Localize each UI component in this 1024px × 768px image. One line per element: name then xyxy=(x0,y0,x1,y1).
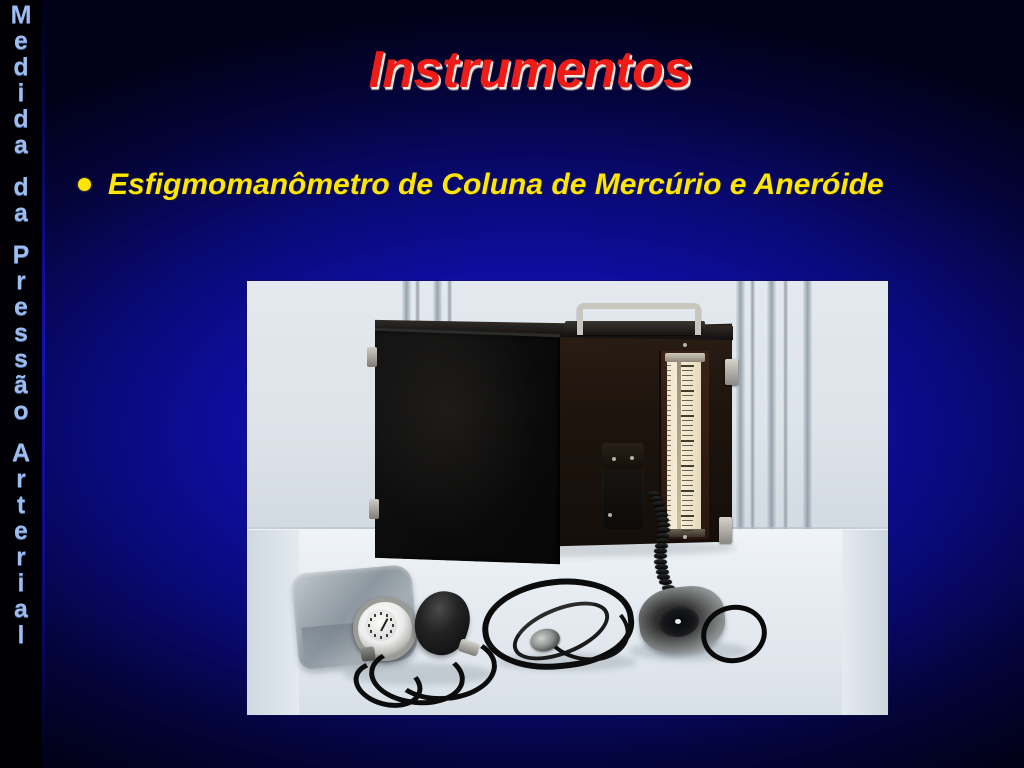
scale-tick xyxy=(663,425,671,426)
gauge-needle xyxy=(380,618,388,631)
scale-tick xyxy=(663,460,671,461)
scale-tick xyxy=(682,445,693,446)
scale-tick xyxy=(663,390,671,391)
sidebar-letter: ã xyxy=(0,372,42,398)
scale-tick xyxy=(663,375,671,376)
scale-tick xyxy=(663,470,671,471)
scale-tick xyxy=(682,435,693,436)
scale-tick xyxy=(663,440,671,441)
scale-tick xyxy=(663,395,671,396)
scale-tick xyxy=(682,430,693,431)
page-title: Instrumentos xyxy=(180,40,880,104)
sidebar-letter: d xyxy=(0,174,42,200)
sidebar-letter: i xyxy=(0,570,42,596)
gauge-tick xyxy=(370,618,372,621)
sidebar-letter: o xyxy=(0,398,42,424)
scale-tick xyxy=(682,480,693,481)
pouch-stud xyxy=(608,513,612,517)
scale-tick xyxy=(663,410,671,411)
scale-tick xyxy=(663,385,671,386)
list-item: Esfigmomanômetro de Coluna de Mercúrio e… xyxy=(78,165,968,205)
scale-tick xyxy=(682,450,693,451)
sidebar-letter: l xyxy=(0,622,42,648)
case-hinge xyxy=(367,347,377,367)
scale-tick xyxy=(682,375,693,376)
scale-tick xyxy=(681,365,694,367)
scale-tick xyxy=(663,400,671,401)
case-hinge xyxy=(369,499,379,519)
gauge-tick xyxy=(392,624,394,627)
gauge-tick xyxy=(374,614,376,617)
sidebar-letter: d xyxy=(0,106,42,132)
scale-tick xyxy=(682,405,693,406)
scale-tick xyxy=(682,395,693,396)
case-latch xyxy=(725,359,738,385)
rolled-cuff xyxy=(639,581,749,659)
aneroid-sphygmomanometer xyxy=(295,569,515,709)
scale-tick xyxy=(663,480,671,481)
sidebar-letter: P xyxy=(0,242,42,268)
sidebar-letter: s xyxy=(0,346,42,372)
curtain-pleat xyxy=(767,281,776,533)
sidebar-letter: i xyxy=(0,80,42,106)
case-lid-sheen xyxy=(375,331,560,564)
gauge-tick xyxy=(380,612,382,615)
curtain-pleat xyxy=(803,281,812,533)
sidebar-letter: a xyxy=(0,132,42,158)
sidebar-letter: a xyxy=(0,200,42,226)
bullet-text: Esfigmomanômetro de Coluna de Mercúrio e… xyxy=(108,165,884,205)
gauge-tick xyxy=(390,618,392,621)
scale-tick xyxy=(682,475,693,476)
carry-handle-icon xyxy=(577,303,701,335)
gauge-tick xyxy=(370,630,372,633)
sidebar-letter: r xyxy=(0,268,42,294)
scale-tick xyxy=(682,470,693,471)
table-right-fall xyxy=(842,530,888,715)
panel-screw xyxy=(683,343,687,347)
accessory-pouch xyxy=(602,443,644,529)
vertical-title-sidebar: MedidadaPressãoArterial xyxy=(0,0,42,768)
pouch-stud xyxy=(612,457,616,461)
pouch-stud xyxy=(630,456,634,460)
sidebar-letter: A xyxy=(0,440,42,466)
curtain-pleat xyxy=(736,281,745,533)
sidebar-letter: e xyxy=(0,28,42,54)
sidebar-letter: d xyxy=(0,54,42,80)
scale-tick xyxy=(681,465,694,467)
scale-tick xyxy=(663,485,671,486)
gauge-tick xyxy=(380,636,382,639)
sidebar-letter: M xyxy=(0,2,42,28)
scale-tick xyxy=(682,380,693,381)
cuff-highlight xyxy=(675,619,681,624)
scale-tick xyxy=(663,475,671,476)
gauge-tick xyxy=(368,624,370,627)
pouch-flap xyxy=(602,443,644,469)
instrument-photo xyxy=(247,281,888,715)
sidebar-letter: a xyxy=(0,596,42,622)
sidebar-letter: t xyxy=(0,492,42,518)
scale-tick xyxy=(663,465,671,466)
scale-tick xyxy=(682,425,693,426)
sidebar-letter: e xyxy=(0,518,42,544)
sidebar-letter: r xyxy=(0,544,42,570)
scale-tick xyxy=(681,415,694,417)
scale-tick xyxy=(682,400,693,401)
scale-tick xyxy=(682,485,693,486)
scale-tick xyxy=(663,415,671,416)
case-lid xyxy=(375,328,560,564)
sidebar-glow-edge xyxy=(42,0,45,768)
scale-tick xyxy=(663,365,671,366)
scale-tick xyxy=(682,370,693,371)
content-body: Esfigmomanômetro de Coluna de Mercúrio e… xyxy=(78,165,968,205)
scale-tick xyxy=(682,420,693,421)
gauge-dial-face xyxy=(365,609,397,641)
scale-tick xyxy=(663,455,671,456)
scale-tick xyxy=(663,370,671,371)
sidebar-letter: e xyxy=(0,294,42,320)
scale-tick xyxy=(663,430,671,431)
scale-top-cap xyxy=(665,353,705,362)
scale-tick xyxy=(682,460,693,461)
curtain-pleat xyxy=(750,281,755,533)
table-left-fall xyxy=(247,530,299,715)
scale-tick xyxy=(681,440,694,442)
slide-canvas: MedidadaPressãoArterial Instrumentos Esf… xyxy=(0,0,1024,768)
scale-tick xyxy=(663,435,671,436)
scale-tick xyxy=(682,385,693,386)
curtain-pleat xyxy=(783,281,788,533)
scale-tick xyxy=(682,455,693,456)
sidebar-letter: s xyxy=(0,320,42,346)
bullet-dot-icon xyxy=(78,178,91,191)
gauge-tick xyxy=(390,630,392,633)
scale-tick xyxy=(682,410,693,411)
case-latch xyxy=(719,517,732,543)
scale-tick xyxy=(663,420,671,421)
scale-tick xyxy=(663,445,671,446)
sidebar-letter-stack: MedidadaPressãoArterial xyxy=(0,0,42,768)
scale-tick xyxy=(663,405,671,406)
gauge-tick xyxy=(386,614,388,617)
scale-tick xyxy=(663,380,671,381)
gauge-tick xyxy=(386,634,388,637)
sidebar-word-gap xyxy=(0,226,42,242)
scale-tick xyxy=(681,390,694,392)
sidebar-word-gap xyxy=(0,424,42,440)
scale-tick xyxy=(663,450,671,451)
gauge-tick xyxy=(374,634,376,637)
sidebar-word-gap xyxy=(0,158,42,174)
sidebar-letter: r xyxy=(0,466,42,492)
